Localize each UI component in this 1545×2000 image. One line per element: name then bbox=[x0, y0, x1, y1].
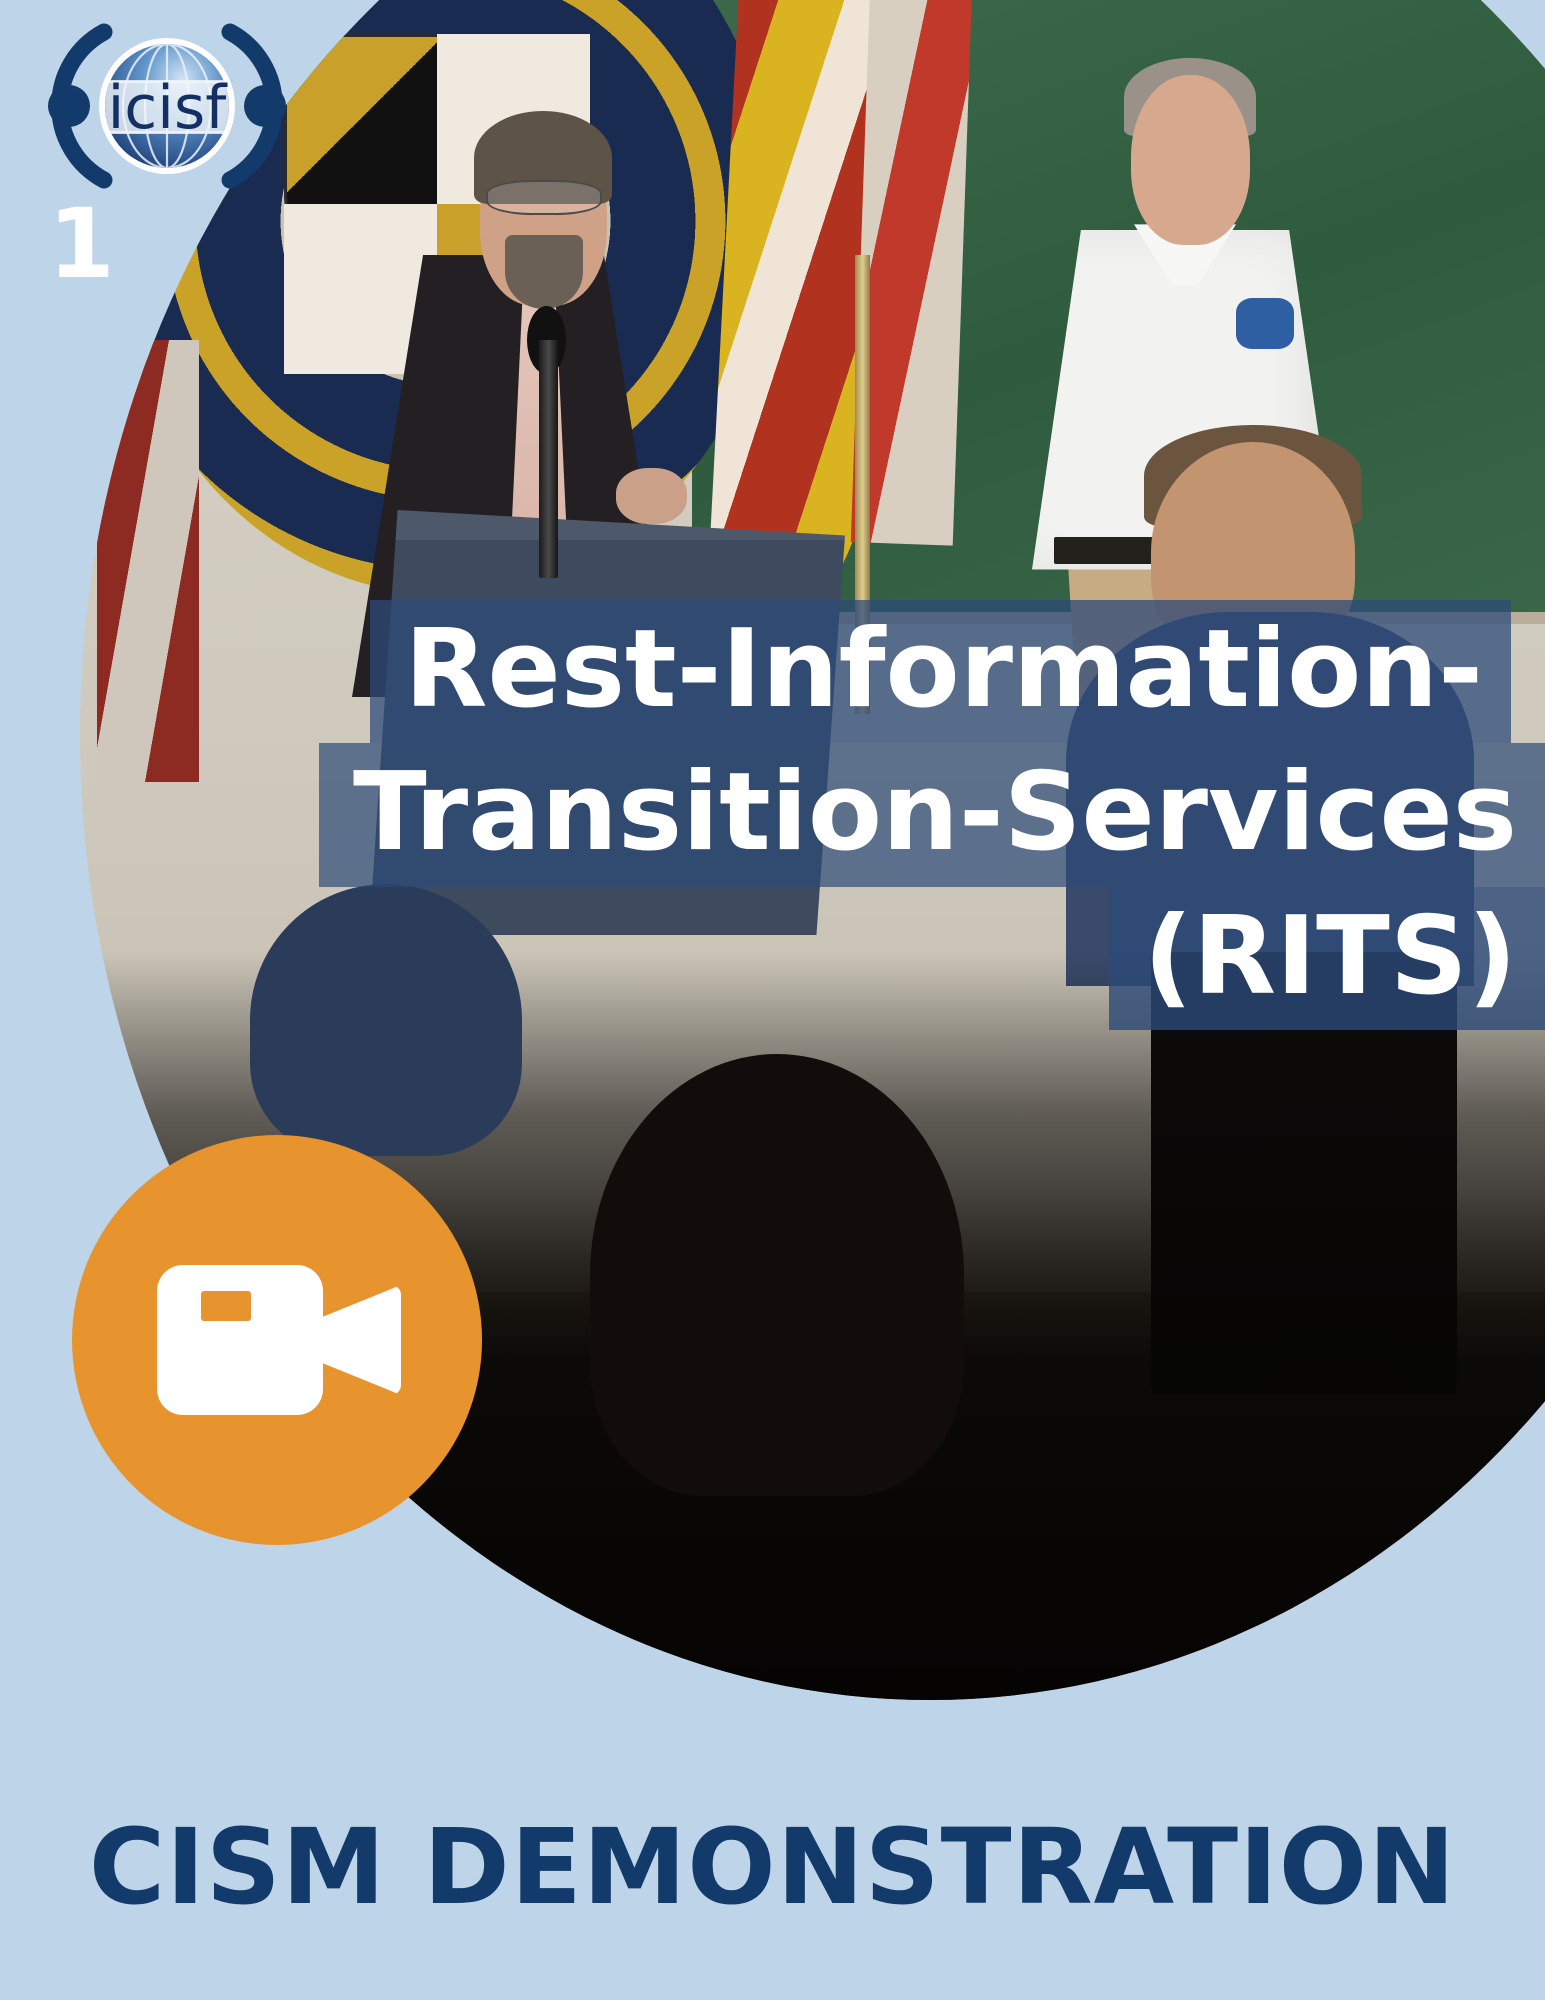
photo-microphone bbox=[539, 340, 558, 578]
icisf-logo: icisf bbox=[42, 22, 292, 190]
caption-text: CISM DEMONSTRATION bbox=[0, 1815, 1545, 1919]
photo-presenter-2-head bbox=[1131, 75, 1250, 245]
photo-presenter-1-glasses bbox=[486, 180, 602, 215]
slide-number: 1 bbox=[48, 196, 114, 292]
photo-presenter-1-hand bbox=[616, 468, 687, 524]
camera-body bbox=[157, 1265, 323, 1415]
photo-presenter-2-badge bbox=[1236, 298, 1294, 349]
icisf-wordmark: icisf bbox=[108, 73, 229, 143]
page-title: Rest-Information- Transition-Services (R… bbox=[0, 600, 1545, 1030]
photo-presenter-1-beard bbox=[505, 235, 583, 310]
title-line-3: (RITS) bbox=[0, 887, 1545, 1030]
camera-indicator bbox=[201, 1291, 251, 1321]
video-badge[interactable] bbox=[72, 1135, 482, 1545]
slide-page: icisf 1 Rest-Information- Transition-Ser… bbox=[0, 0, 1545, 2000]
photo-audience-head-center bbox=[590, 1054, 964, 1496]
globe-icon: icisf bbox=[42, 22, 292, 190]
title-line-1: Rest-Information- bbox=[0, 600, 1545, 743]
title-line-2: Transition-Services bbox=[0, 743, 1545, 886]
video-camera-icon bbox=[157, 1265, 397, 1415]
